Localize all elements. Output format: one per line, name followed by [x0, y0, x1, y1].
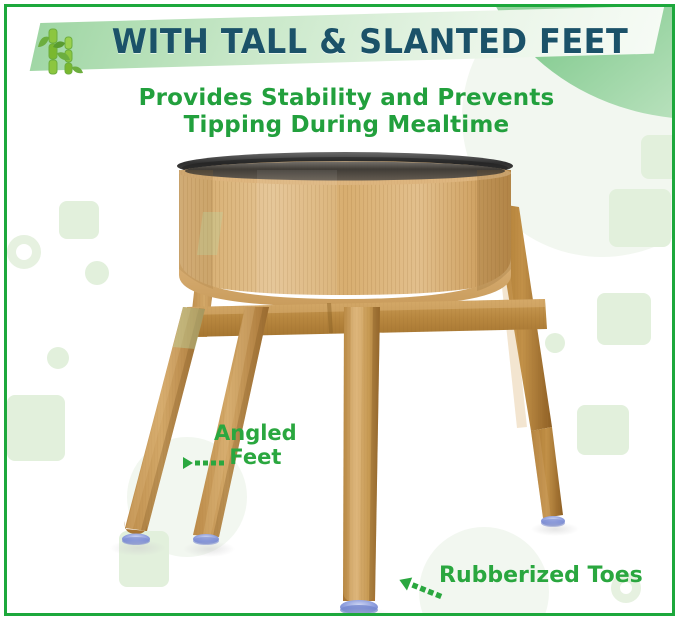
callout-angled-feet-arrow: [179, 455, 227, 471]
callout-rubberized-toes-label: Rubberized Toes: [439, 564, 643, 588]
leg-right-toe: [531, 427, 579, 536]
product-marketing-image: WITH TALL & SLANTED FEET Provides Stabil…: [0, 0, 679, 620]
subtitle-line-2: Tipping During Mealtime: [7, 112, 675, 139]
bamboo-icon: [37, 23, 91, 79]
callout-rubberized-toes-arrow: [382, 567, 452, 607]
subtitle: Provides Stability and Prevents Tipping …: [7, 85, 675, 139]
page-title: WITH TALL & SLANTED FEET: [93, 21, 648, 63]
subtitle-line-1: Provides Stability and Prevents: [7, 85, 675, 112]
bamboo-bowl: [177, 152, 513, 307]
green-frame-border: WITH TALL & SLANTED FEET Provides Stabil…: [4, 4, 675, 616]
